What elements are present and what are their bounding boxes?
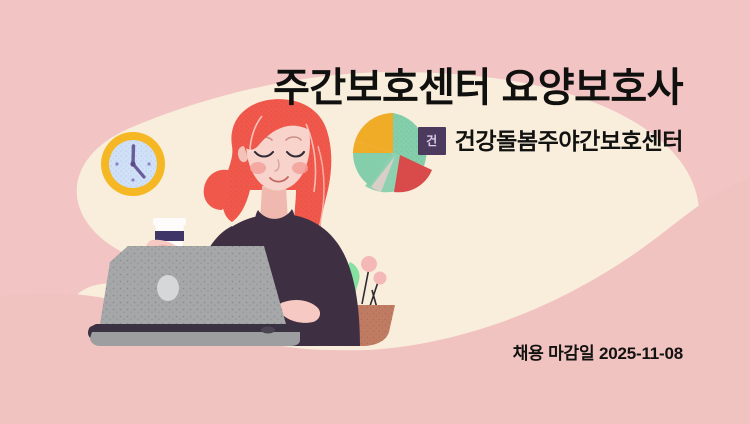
job-posting-banner: 주간보호센터 요양보호사 건 건강돌봄주야간보호센터 채용 마감일 2025-1… — [0, 0, 750, 424]
company-logo-badge: 건 — [418, 127, 446, 155]
text-overlay: 주간보호센터 요양보호사 건 건강돌봄주야간보호센터 채용 마감일 2025-1… — [0, 0, 750, 424]
page-title: 주간보호센터 요양보호사 — [273, 68, 683, 108]
application-deadline: 채용 마감일 2025-11-08 — [513, 339, 683, 364]
title-block: 주간보호센터 요양보호사 건 건강돌봄주야간보호센터 — [273, 68, 683, 155]
company-name[interactable]: 건강돌봄주야간보호센터 — [455, 130, 683, 153]
company-row[interactable]: 건 건강돌봄주야간보호센터 — [273, 127, 683, 155]
